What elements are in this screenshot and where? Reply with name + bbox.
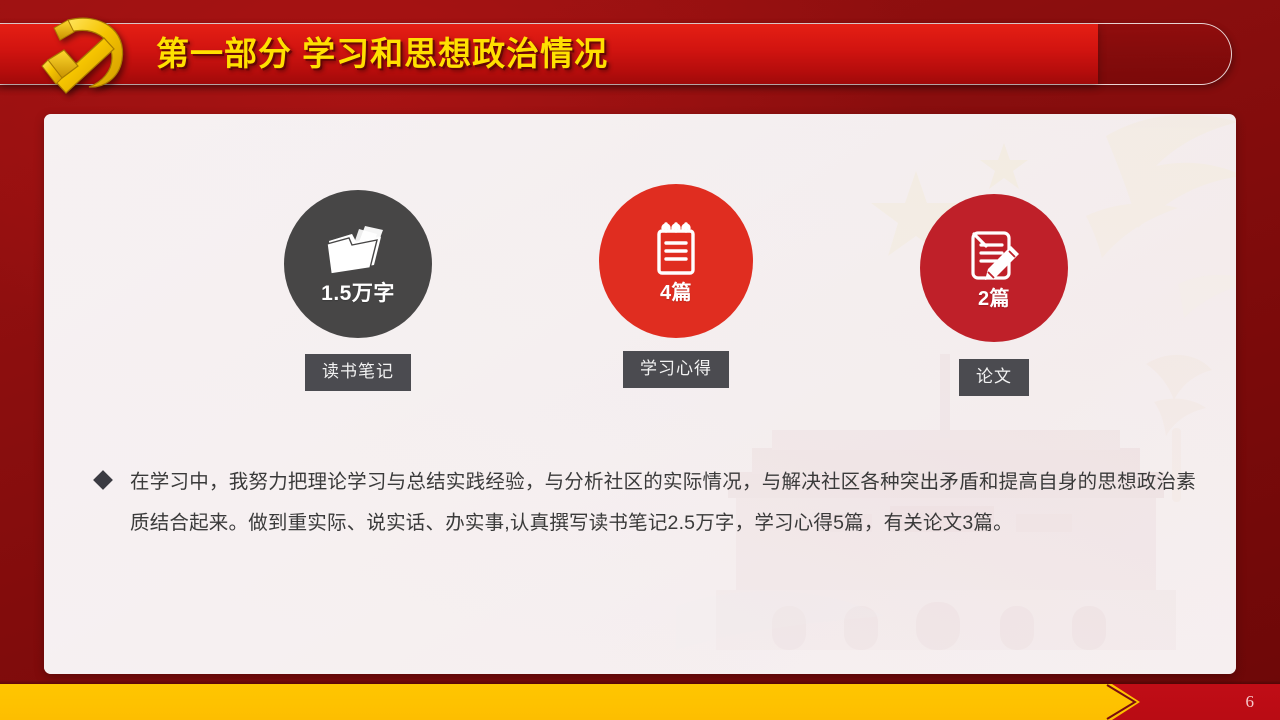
content-card: 1.5万字 读书笔记 xyxy=(44,114,1236,674)
stat-badge-wrap: 论文 xyxy=(874,359,1114,396)
stat-circle: 1.5万字 xyxy=(284,190,432,338)
footer-arrow-edge-icon xyxy=(1105,684,1145,720)
notepad-icon xyxy=(651,219,701,279)
stat-value: 1.5万字 xyxy=(321,283,395,304)
body-paragraph-block: 在学习中，我努力把理论学习与总结实践经验，与分析社区的实际情况，与解决社区各种突… xyxy=(96,462,1196,544)
stat-badge-wrap: 学习心得 xyxy=(556,351,796,388)
footer-gold-arrow xyxy=(0,684,1140,720)
stat-value: 4篇 xyxy=(660,283,692,303)
stat-circle: 2篇 xyxy=(920,194,1068,342)
page-number: 6 xyxy=(1246,684,1255,720)
stat-label-badge: 读书笔记 xyxy=(305,354,411,391)
stat-value: 2篇 xyxy=(978,289,1010,309)
stats-row: 1.5万字 读书笔记 xyxy=(44,190,1236,490)
page-title: 第一部分 学习和思想政治情况 xyxy=(156,27,608,81)
stat-badge-wrap: 读书笔记 xyxy=(238,354,478,391)
diamond-bullet-icon xyxy=(93,470,113,490)
stat-label-badge: 学习心得 xyxy=(623,351,729,388)
folder-documents-icon xyxy=(325,224,391,276)
stat-circle: 4篇 xyxy=(599,184,753,338)
stat-label-badge: 论文 xyxy=(959,359,1029,396)
stat-item-papers[interactable]: 2篇 论文 xyxy=(874,190,1114,396)
document-pencil-icon xyxy=(966,227,1022,285)
slide: 第一部分 学习和思想政治情况 xyxy=(0,0,1280,720)
stat-item-study-reflections[interactable]: 4篇 学习心得 xyxy=(556,190,796,388)
slide-footer: 6 xyxy=(0,684,1280,720)
party-emblem-hammer-sickle-icon xyxy=(34,4,142,104)
body-paragraph: 在学习中，我努力把理论学习与总结实践经验，与分析社区的实际情况，与解决社区各种突… xyxy=(130,462,1196,544)
slide-header: 第一部分 学习和思想政治情况 xyxy=(0,0,1280,108)
stat-item-reading-notes[interactable]: 1.5万字 读书笔记 xyxy=(238,190,478,391)
